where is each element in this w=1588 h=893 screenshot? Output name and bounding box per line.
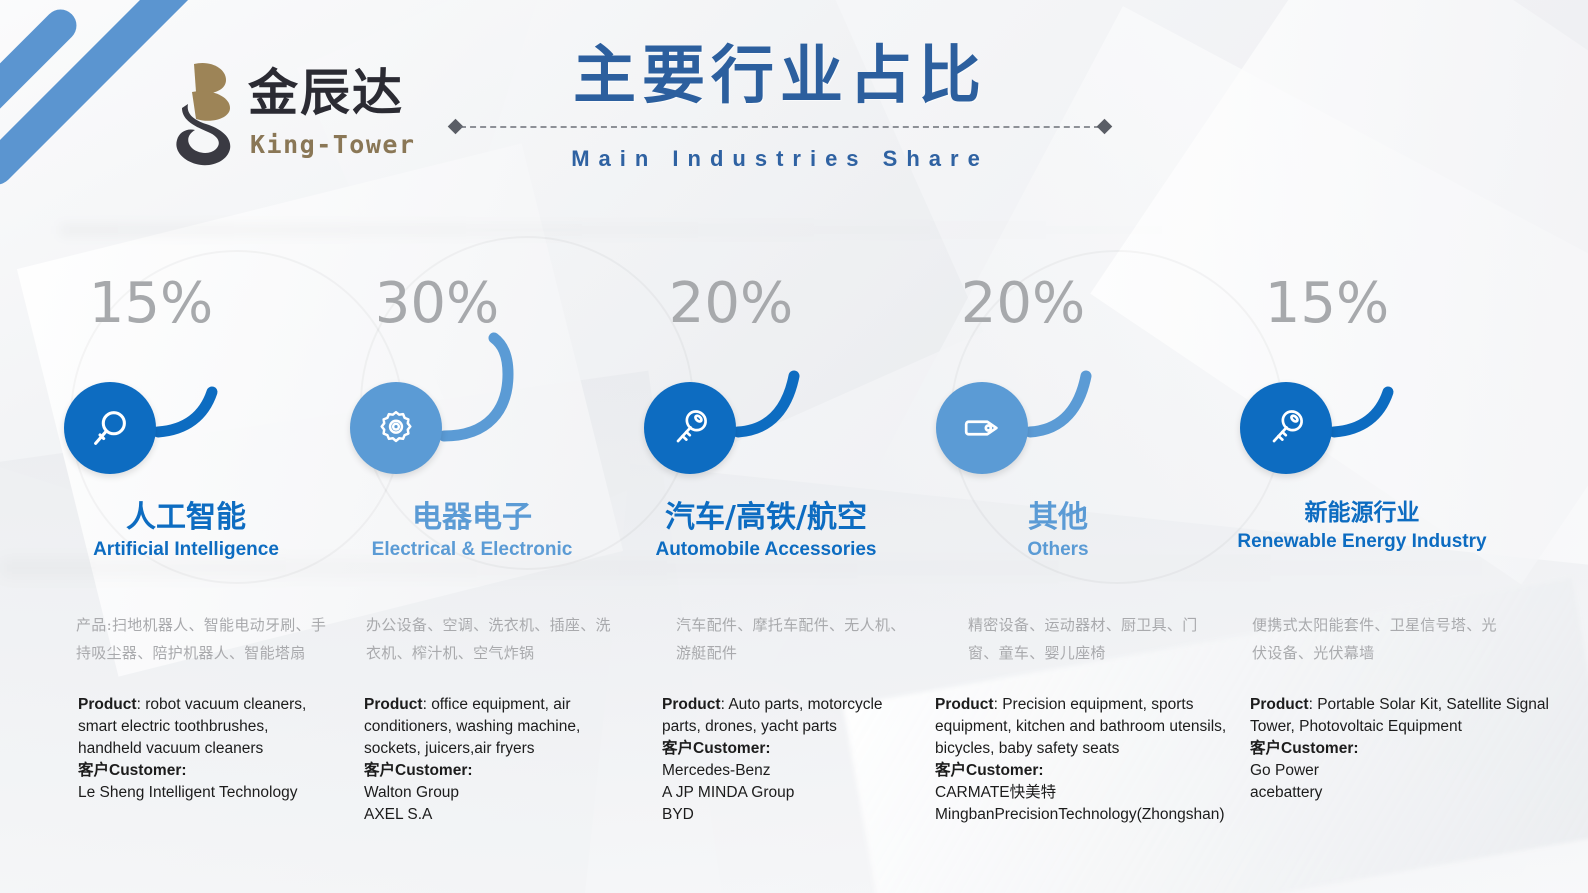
customer-name: A JP MINDA Group bbox=[662, 782, 916, 804]
percentage-value: 15% bbox=[56, 276, 246, 332]
customer-name: Le Sheng Intelligent Technology bbox=[78, 782, 336, 804]
customer-name: BYD bbox=[662, 804, 916, 826]
customer-name: Go Power bbox=[1250, 760, 1550, 782]
icon-bubble[interactable] bbox=[644, 382, 736, 474]
industry-column: 15%人工智能Artificial Intelligence bbox=[36, 276, 336, 562]
customer-name: Walton Group bbox=[364, 782, 614, 804]
customer-name: MingbanPrecisionTechnology(Zhongshan) bbox=[935, 804, 1235, 826]
product-line: Product: Precision equipment, sports equ… bbox=[935, 694, 1235, 760]
customer-name: Mercedes-Benz bbox=[662, 760, 916, 782]
industry-title-en: Artificial Intelligence bbox=[36, 539, 336, 562]
customer-label: 客户Customer: bbox=[364, 760, 614, 782]
magnifier-icon bbox=[87, 405, 133, 451]
customer-name: CARMATE快美特 bbox=[935, 782, 1235, 804]
title-block: 主要行业占比 Main Industries Share bbox=[450, 42, 1110, 172]
industry-column: 15%新能源行业Renewable Energy Industry bbox=[1212, 276, 1512, 554]
percentage-value: 20% bbox=[636, 276, 826, 332]
product-line: Product: Auto parts, motorcycle parts, d… bbox=[662, 694, 916, 738]
industry-title-en: Others bbox=[908, 539, 1208, 562]
product-label: Product bbox=[78, 696, 137, 713]
king-tower-logo-icon bbox=[166, 58, 238, 168]
industry-description-zh: 汽车配件、摩托车配件、无人机、游艇配件 bbox=[676, 612, 914, 668]
product-line: Product: Portable Solar Kit, Satellite S… bbox=[1250, 694, 1550, 738]
icon-bubble[interactable] bbox=[1240, 382, 1332, 474]
industry-title-en: Electrical & Electronic bbox=[322, 539, 622, 562]
icon-bubble[interactable] bbox=[936, 382, 1028, 474]
icon-bubble[interactable] bbox=[350, 382, 442, 474]
product-separator: : bbox=[1309, 696, 1318, 713]
brand-name-zh: 金辰达 bbox=[248, 68, 404, 118]
key-icon bbox=[667, 405, 713, 451]
diamond-marker-right bbox=[1097, 119, 1113, 135]
gear-icon bbox=[373, 405, 419, 451]
page-subtitle-en: Main Industries Share bbox=[450, 146, 1110, 172]
industry-details-en: Product: Portable Solar Kit, Satellite S… bbox=[1250, 694, 1550, 804]
brand-logo: 金辰达 King-Tower bbox=[166, 58, 436, 173]
background-shadow bbox=[60, 225, 1220, 235]
icon-graphic bbox=[908, 340, 1208, 500]
industry-details-en: Product: office equipment, air condition… bbox=[364, 694, 614, 826]
tag-icon bbox=[959, 405, 1005, 451]
brand-name-en: King-Tower bbox=[250, 130, 416, 159]
infographic-canvas: 金辰达 King-Tower 主要行业占比 Main Industries Sh… bbox=[0, 0, 1588, 893]
icon-graphic bbox=[322, 340, 622, 500]
customer-label: 客户Customer: bbox=[935, 760, 1235, 782]
customer-label: 客户Customer: bbox=[78, 760, 336, 782]
icon-graphic bbox=[36, 340, 336, 500]
percentage-value: 20% bbox=[928, 276, 1118, 332]
product-label: Product bbox=[1250, 696, 1309, 713]
customer-label: 客户Customer: bbox=[662, 738, 916, 760]
icon-graphic bbox=[616, 340, 916, 500]
customer-name: acebattery bbox=[1250, 782, 1550, 804]
customer-label: 客户Customer: bbox=[1250, 738, 1550, 760]
product-label: Product bbox=[364, 696, 423, 713]
industry-details-en: Product: Auto parts, motorcycle parts, d… bbox=[662, 694, 916, 826]
product-label: Product bbox=[662, 696, 721, 713]
product-separator: : bbox=[423, 696, 432, 713]
page-title-zh: 主要行业占比 bbox=[450, 42, 1110, 110]
title-divider bbox=[450, 118, 1110, 136]
industry-column: 20%其他Others bbox=[908, 276, 1208, 562]
industry-description-zh: 办公设备、空调、洗衣机、插座、洗衣机、榨汁机、空气炸锅 bbox=[366, 612, 616, 668]
dashed-rule bbox=[460, 126, 1100, 128]
percentage-value: 15% bbox=[1232, 276, 1422, 332]
product-separator: : bbox=[994, 696, 1003, 713]
percentage-value: 30% bbox=[342, 276, 532, 332]
customer-name: AXEL S.A bbox=[364, 804, 614, 826]
industry-title-en: Automobile Accessories bbox=[616, 539, 916, 562]
key-icon bbox=[1263, 405, 1309, 451]
product-separator: : bbox=[137, 696, 146, 713]
industry-column: 20%汽车/高铁/航空Automobile Accessories bbox=[616, 276, 916, 562]
industry-description-zh: 精密设备、运动器材、厨卫具、门窗、童车、婴儿座椅 bbox=[968, 612, 1220, 668]
icon-bubble[interactable] bbox=[64, 382, 156, 474]
industry-details-en: Product: robot vacuum cleaners, smart el… bbox=[78, 694, 336, 804]
product-label: Product bbox=[935, 696, 994, 713]
product-line: Product: robot vacuum cleaners, smart el… bbox=[78, 694, 336, 760]
industry-details-en: Product: Precision equipment, sports equ… bbox=[935, 694, 1235, 826]
product-line: Product: office equipment, air condition… bbox=[364, 694, 614, 760]
industry-column: 30%电器电子Electrical & Electronic bbox=[322, 276, 622, 562]
industry-description-zh: 产品:扫地机器人、智能电动牙刷、手持吸尘器、陪护机器人、智能塔扇 bbox=[76, 612, 338, 668]
industry-description-zh: 便携式太阳能套件、卫星信号塔、光伏设备、光伏幕墙 bbox=[1252, 612, 1502, 668]
icon-graphic bbox=[1212, 340, 1512, 500]
industry-title-en: Renewable Energy Industry bbox=[1212, 531, 1512, 554]
